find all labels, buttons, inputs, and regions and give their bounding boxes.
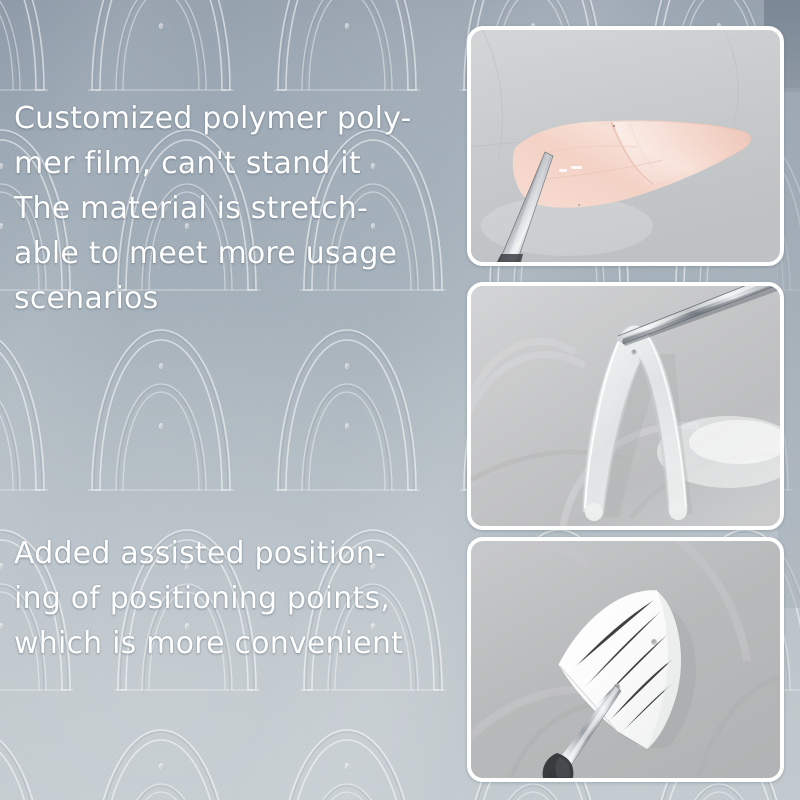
photo-card-nail-tip-pink bbox=[467, 26, 784, 266]
embossed-arch-cell bbox=[76, 710, 246, 800]
embossed-arch-cell bbox=[262, 0, 432, 96]
photo-card-white-film-dots bbox=[467, 537, 784, 782]
embossed-arch-cell bbox=[76, 0, 246, 96]
embossed-arch-cell bbox=[76, 310, 246, 496]
embossed-arch-cell bbox=[0, 0, 60, 96]
photo-white-film-dots bbox=[471, 541, 780, 778]
headline-top: Customized polymer poly- mer film, can't… bbox=[14, 96, 466, 321]
headline-bottom: Added assisted position- ing of position… bbox=[14, 531, 466, 666]
photo-nail-tip-pink bbox=[471, 30, 780, 262]
embossed-arch-cell bbox=[262, 310, 432, 496]
photo-arch-film-clear bbox=[471, 286, 780, 526]
embossed-arch-cell bbox=[262, 710, 432, 800]
embossed-arch-cell bbox=[0, 710, 60, 800]
photo-card-arch-film-clear bbox=[467, 282, 784, 530]
banner-stage: Customized polymer poly- mer film, can't… bbox=[0, 0, 800, 800]
embossed-arch-cell bbox=[0, 310, 60, 496]
